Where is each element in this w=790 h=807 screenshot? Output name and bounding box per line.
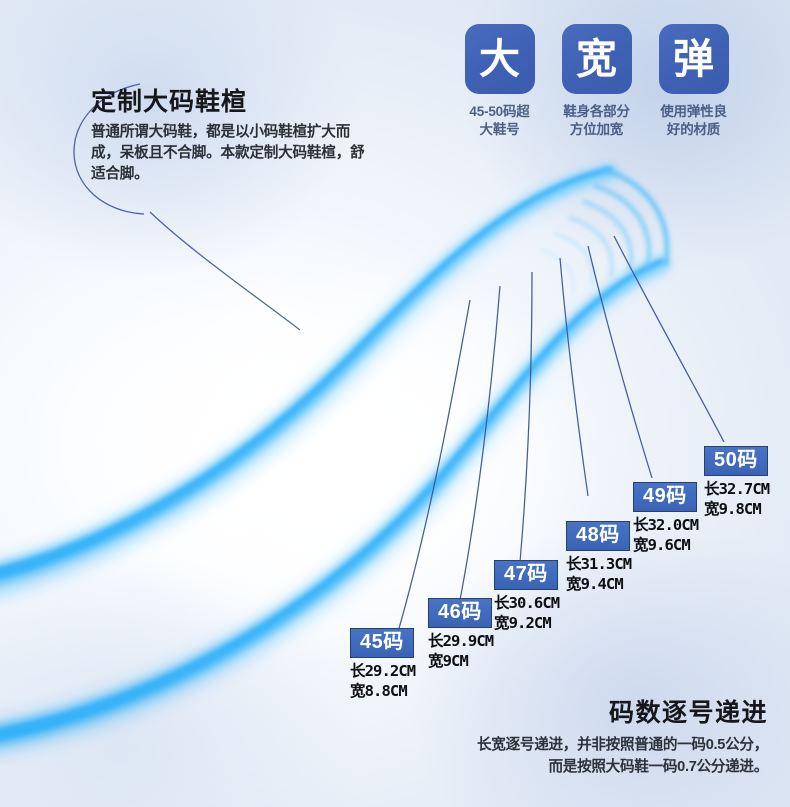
- feature-caption-elastic: 使用弹性良 好的材质: [656, 103, 731, 139]
- feature-caption-big: 45-50码超 大鞋号: [462, 103, 537, 139]
- lead-body: 普通所谓大码鞋，都是以小码鞋楦扩大而成，呆板且不合脚。本款定制大码鞋楦，舒适合脚…: [91, 122, 369, 185]
- product-infographic: 大 45-50码超 大鞋号 宽 鞋身各部分 方位加宽 弹 使用弹性良 好的材质 …: [0, 0, 790, 807]
- big-character-icon: 大: [465, 24, 535, 94]
- size-callout-45: 45码 长29.2CM 宽8.8CM: [350, 628, 415, 702]
- size-tag-48: 48码: [566, 521, 630, 551]
- size-width-48: 宽9.4CM: [566, 575, 631, 595]
- size-tag-50: 50码: [704, 446, 768, 476]
- size-callout-46: 46码 长29.9CM 宽9CM: [428, 598, 493, 672]
- size-callout-50: 50码 长32.7CM 宽9.8CM: [704, 446, 769, 520]
- feature-caption-wide: 鞋身各部分 方位加宽: [559, 103, 634, 139]
- size-dims-50: 长32.7CM 宽9.8CM: [704, 480, 769, 520]
- size-length-49: 长32.0CM: [633, 516, 698, 536]
- size-dims-46: 长29.9CM 宽9CM: [428, 632, 493, 672]
- lead-title: 定制大码鞋楦: [91, 88, 369, 117]
- size-width-50: 宽9.8CM: [704, 500, 769, 520]
- wide-character-icon: 宽: [562, 24, 632, 94]
- size-tag-47: 47码: [494, 560, 558, 590]
- size-width-47: 宽9.2CM: [494, 614, 559, 634]
- size-dims-47: 长30.6CM 宽9.2CM: [494, 594, 559, 634]
- feature-badge-elastic: 弹 使用弹性良 好的材质: [656, 24, 731, 139]
- size-length-47: 长30.6CM: [494, 594, 559, 614]
- size-leader-lines: [398, 236, 724, 632]
- size-width-46: 宽9CM: [428, 652, 493, 672]
- size-width-49: 宽9.6CM: [633, 536, 698, 556]
- footer-body: 长宽逐号递进，并非按照普通的一码0.5公分，而是按照大码鞋一码0.7公分递进。: [468, 735, 768, 779]
- size-dims-48: 长31.3CM 宽9.4CM: [566, 555, 631, 595]
- feature-badge-wide: 宽 鞋身各部分 方位加宽: [559, 24, 634, 139]
- size-dims-45: 长29.2CM 宽8.8CM: [350, 662, 415, 702]
- size-tag-45: 45码: [350, 628, 414, 658]
- footer-text-block: 码数逐号递进 长宽逐号递进，并非按照普通的一码0.5公分，而是按照大码鞋一码0.…: [468, 698, 768, 779]
- lead-text-block: 定制大码鞋楦 普通所谓大码鞋，都是以小码鞋楦扩大而成，呆板且不合脚。本款定制大码…: [91, 88, 369, 185]
- size-length-48: 长31.3CM: [566, 555, 631, 575]
- size-callout-47: 47码 长30.6CM 宽9.2CM: [494, 560, 559, 634]
- size-callout-49: 49码 长32.0CM 宽9.6CM: [633, 482, 698, 556]
- footer-title: 码数逐号递进: [468, 698, 768, 728]
- feature-badge-group: 大 45-50码超 大鞋号 宽 鞋身各部分 方位加宽 弹 使用弹性良 好的材质: [462, 24, 732, 139]
- size-width-45: 宽8.8CM: [350, 682, 415, 702]
- size-tag-46: 46码: [428, 598, 492, 628]
- size-length-45: 长29.2CM: [350, 662, 415, 682]
- size-callout-48: 48码 长31.3CM 宽9.4CM: [566, 521, 631, 595]
- size-dims-49: 长32.0CM 宽9.6CM: [633, 516, 698, 556]
- feature-badge-big: 大 45-50码超 大鞋号: [462, 24, 537, 139]
- elastic-character-icon: 弹: [659, 24, 729, 94]
- size-length-50: 长32.7CM: [704, 480, 769, 500]
- size-length-46: 长29.9CM: [428, 632, 493, 652]
- size-tag-49: 49码: [633, 482, 697, 512]
